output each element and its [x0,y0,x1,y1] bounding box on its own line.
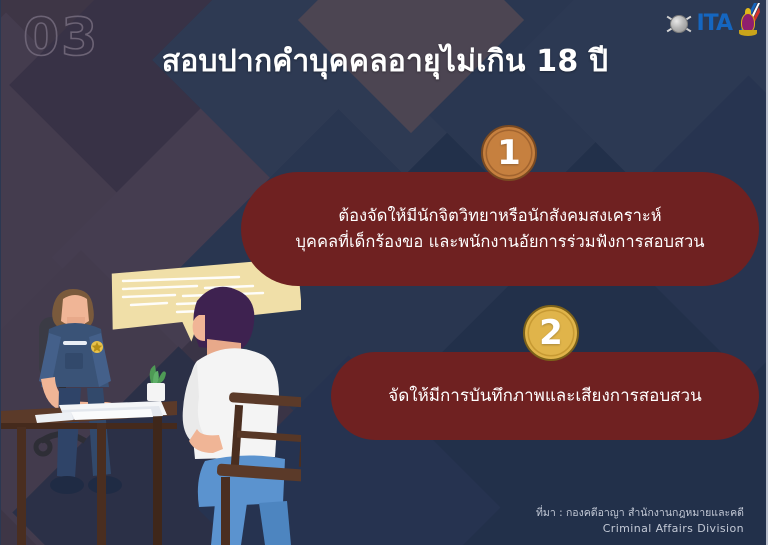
statement-pill-2: จัดให้มีการบันทึกภาพและเสียงการสอบสวน [331,352,759,440]
footer-source-en: Criminal Affairs Division [536,521,744,537]
slide-header: 03 สอบปากคำบุคคลอายุไม่เกิน 18 ปี [1,0,768,96]
step-badge-1-label: 1 [497,136,521,170]
slide-canvas: 03 สอบปากคำบุคคลอายุไม่เกิน 18 ปี ITA [0,0,768,545]
potted-plant [147,365,166,401]
statement-text-1: ต้องจัดให้มีนักจิตวิทยาหรือนักสังคมสงเคร… [277,203,722,254]
statement-text-2: จัดให้มีการบันทึกภาพและเสียงการสอบสวน [370,383,719,409]
step-badge-1: 1 [481,125,537,181]
step-badge-2: 2 [523,305,579,361]
logo-group: ITA [666,6,758,42]
desk [1,401,177,545]
thai-garuda-emblem-icon [738,9,758,39]
footer-source: ที่มา : กองคดีอาญา สำนักงานกฎหมายและคดี … [536,506,744,537]
step-badge-2-label: 2 [539,316,563,350]
footer-source-th: ที่มา : กองคดีอาญา สำนักงานกฎหมายและคดี [536,506,744,521]
ita-wordmark: ITA [696,13,734,35]
police-interview-illustration [1,255,301,545]
page-title: สอบปากคำบุคคลอายุไม่เกิน 18 ปี [1,38,768,85]
ita-orb-icon [666,11,692,37]
statement-pill-1: ต้องจัดให้มีนักจิตวิทยาหรือนักสังคมสงเคร… [241,172,759,286]
